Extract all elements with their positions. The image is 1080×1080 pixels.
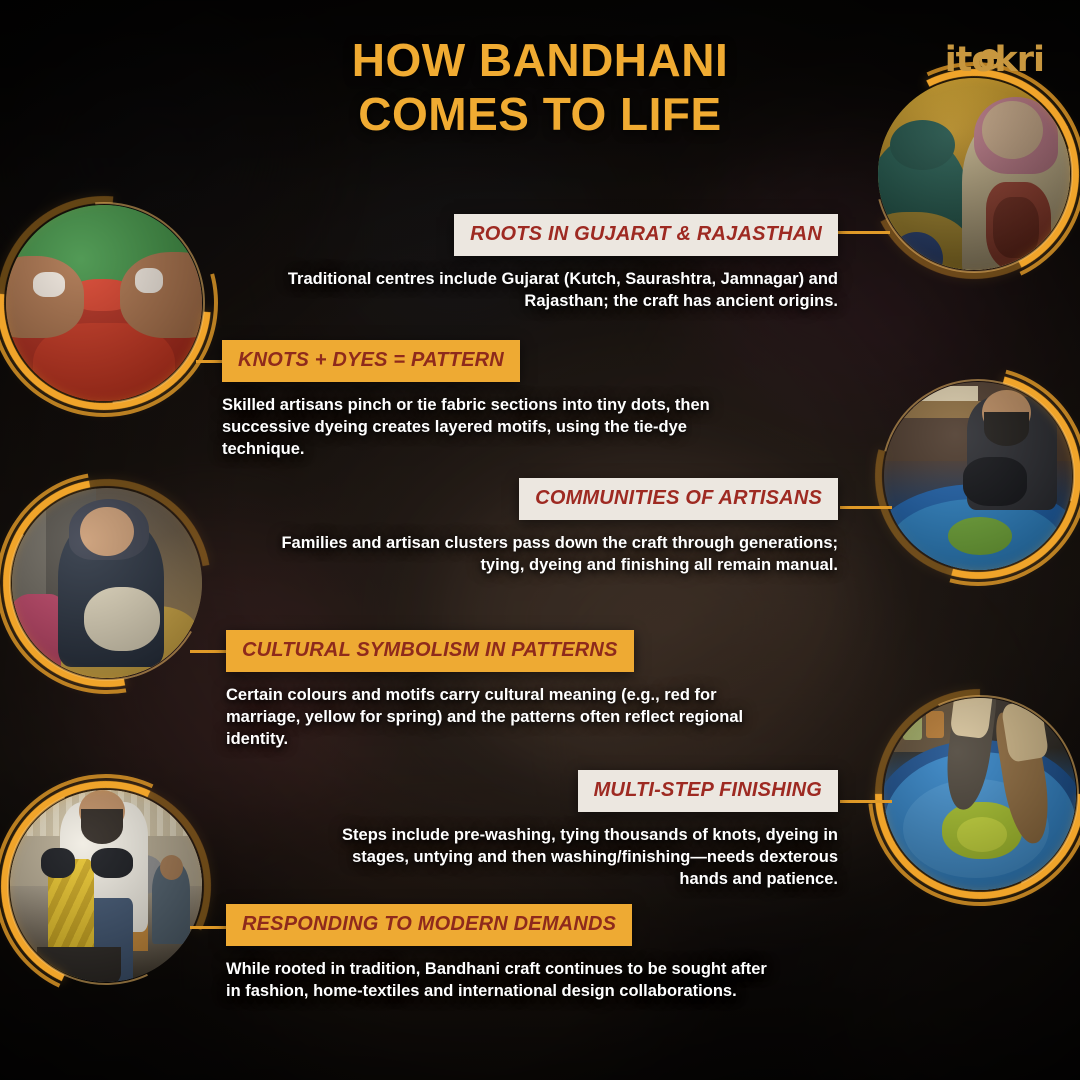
brand-logo[interactable]: itokri (945, 40, 1044, 80)
section-body-symbolism: Certain colours and motifs carry cultura… (226, 685, 782, 750)
section-heading-communities: COMMUNITIES OF ARTISANS (519, 478, 838, 520)
section-knots: KNOTS + DYES = PATTERN Skilled artisans … (222, 340, 768, 460)
photo-hands-red (6, 205, 202, 401)
photo-woman-seated (12, 488, 202, 678)
section-heading-symbolism: CULTURAL SYMBOLISM IN PATTERNS (226, 630, 634, 672)
title-line-1: HOW BANDHANI (0, 34, 1080, 88)
section-heading-knots: KNOTS + DYES = PATTERN (222, 340, 520, 382)
section-heading-roots: ROOTS IN GUJARAT & RAJASTHAN (454, 214, 838, 256)
section-communities: COMMUNITIES OF ARTISANS Families and art… (240, 478, 838, 577)
connector-line-finishing (840, 800, 892, 803)
section-body-modern: While rooted in tradition, Bandhani craf… (226, 959, 786, 1003)
section-roots: ROOTS IN GUJARAT & RAJASTHAN Traditional… (266, 214, 838, 313)
section-modern: RESPONDING TO MODERN DEMANDS While roote… (226, 904, 786, 1003)
connector-line-modern (190, 926, 228, 929)
photo-lifting-yellow (10, 790, 202, 982)
connector-line-communities (840, 506, 892, 509)
section-body-communities: Families and artisan clusters pass down … (240, 533, 838, 577)
section-heading-modern: RESPONDING TO MODERN DEMANDS (226, 904, 632, 946)
section-finishing: MULTI-STEP FINISHING Steps include pre-w… (300, 770, 838, 890)
infographic-canvas: HOW BANDHANI COMES TO LIFE itokri (0, 0, 1080, 1080)
section-symbolism: CULTURAL SYMBOLISM IN PATTERNS Certain c… (226, 630, 782, 750)
section-body-knots: Skilled artisans pinch or tie fabric sec… (222, 395, 768, 460)
connector-line-symbolism (190, 650, 228, 653)
photo-dyer-drum (884, 382, 1072, 570)
section-heading-finishing: MULTI-STEP FINISHING (578, 770, 838, 812)
connector-line-roots (838, 231, 890, 234)
logo-circle-icon (979, 49, 1000, 70)
title-line-2: COMES TO LIFE (0, 88, 1080, 142)
photo-dye-vat (884, 698, 1076, 890)
section-body-finishing: Steps include pre-washing, tying thousan… (300, 825, 838, 890)
section-body-roots: Traditional centres include Gujarat (Kut… (266, 269, 838, 313)
page-title: HOW BANDHANI COMES TO LIFE (0, 34, 1080, 142)
